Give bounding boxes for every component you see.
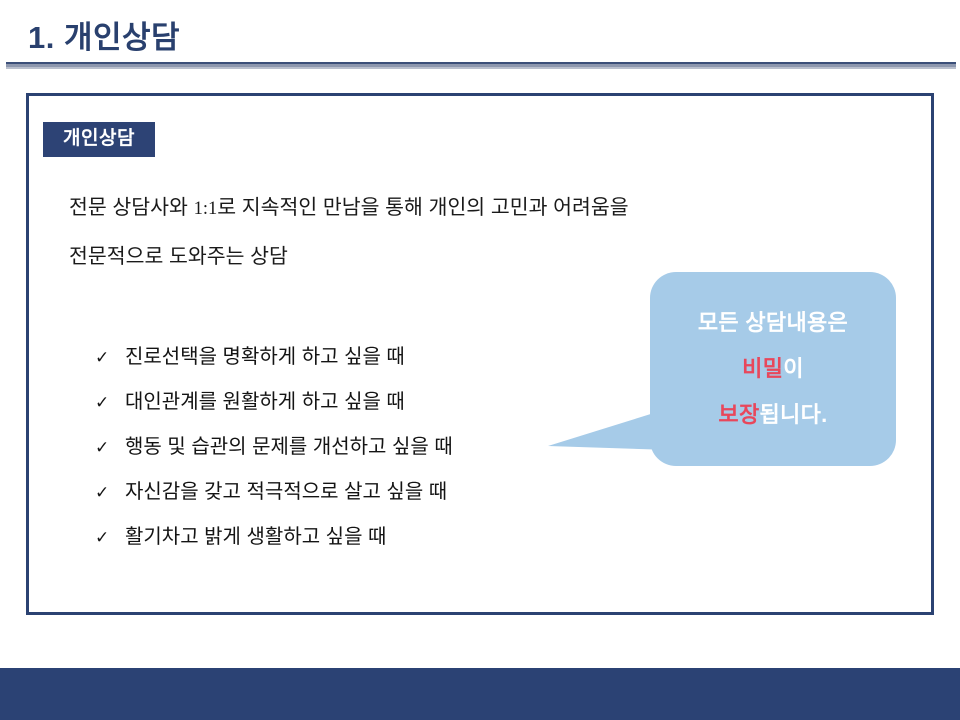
lead-line-1-part-a: 전문 상담사와	[69, 196, 194, 219]
list-item: ✓ 대인관계를 원활하게 하고 싶을 때	[95, 385, 453, 430]
bubble-line-3: 보장됩니다.	[718, 392, 827, 438]
list-item-label: 자신감을 갖고 적극적으로 살고 싶을 때	[125, 475, 447, 504]
list-item-label: 진로선택을 명확하게 하고 싶을 때	[125, 340, 405, 369]
check-icon: ✓	[95, 484, 125, 501]
check-icon: ✓	[95, 529, 125, 546]
benefit-list: ✓ 진로선택을 명확하게 하고 싶을 때 ✓ 대인관계를 원활하게 하고 싶을 …	[95, 340, 453, 565]
lead-line-1: 전문 상담사와 1:1로 지속적인 만남을 통해 개인의 고민과 어려움을	[69, 184, 829, 233]
bubble-line-1: 모든 상담내용은	[698, 300, 848, 346]
check-icon: ✓	[95, 394, 125, 411]
lead-paragraph: 전문 상담사와 1:1로 지속적인 만남을 통해 개인의 고민과 어려움을 전문…	[69, 184, 829, 280]
check-icon: ✓	[95, 439, 125, 456]
list-item: ✓ 진로선택을 명확하게 하고 싶을 때	[95, 340, 453, 385]
section-badge: 개인상담	[43, 122, 155, 157]
list-item-label: 행동 및 습관의 문제를 개선하고 싶을 때	[125, 430, 453, 459]
bubble-highlight-guarantee: 보장	[718, 402, 759, 427]
lead-line-1-part-b: 로 지속적인 만남을 통해 개인의 고민과 어려움을	[217, 196, 628, 219]
slide-canvas: 1. 개인상담 개인상담 전문 상담사와 1:1로 지속적인 만남을 통해 개인…	[0, 0, 960, 720]
list-item-label: 대인관계를 원활하게 하고 싶을 때	[125, 385, 405, 414]
bubble-line-2: 비밀이	[742, 346, 804, 392]
bubble-line-3-rest: 됩니다.	[760, 402, 828, 427]
bubble-highlight-secret: 비밀	[742, 356, 783, 381]
list-item: ✓ 행동 및 습관의 문제를 개선하고 싶을 때	[95, 430, 453, 475]
list-item: ✓ 활기차고 밝게 생활하고 싶을 때	[95, 520, 453, 565]
bubble-line-2-rest: 이	[783, 356, 804, 381]
ratio-value: 1:1	[194, 199, 218, 219]
check-icon: ✓	[95, 349, 125, 366]
list-item: ✓ 자신감을 갖고 적극적으로 살고 싶을 때	[95, 475, 453, 520]
page-title: 1. 개인상담	[28, 19, 180, 56]
list-item-label: 활기차고 밝게 생활하고 싶을 때	[125, 520, 386, 549]
title-divider	[6, 62, 956, 69]
bubble-body: 모든 상담내용은 비밀이 보장됩니다.	[650, 272, 896, 466]
footer-bar	[0, 668, 960, 720]
